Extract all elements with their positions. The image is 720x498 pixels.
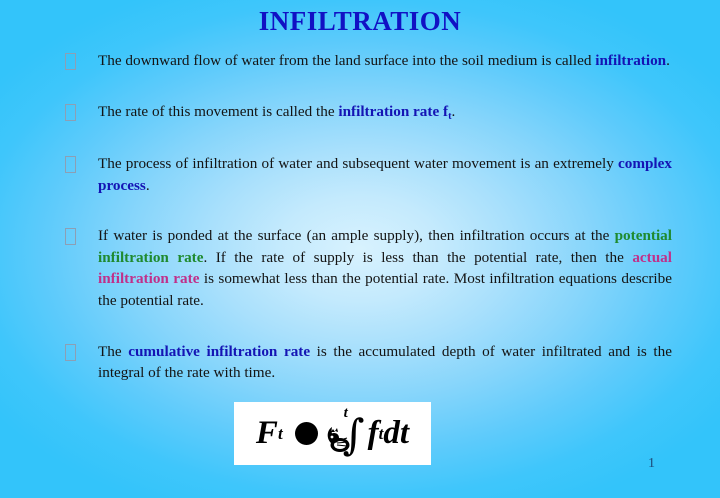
text-segment: The process of infiltration of water and…	[98, 155, 618, 172]
list-item: The process of infiltration of water and…	[0, 153, 720, 196]
equation-formula: Ft t ∫	[256, 406, 409, 462]
text-segment: The rate of this movement is called the	[98, 103, 338, 120]
emphasis-infiltration: infiltration	[595, 52, 666, 69]
list-item: The rate of this movement is called the …	[0, 101, 720, 125]
bullet-text-4: If water is ponded at the surface (an am…	[98, 227, 672, 309]
squirrel-glyph-icon	[325, 425, 351, 453]
bullet-box-icon	[65, 156, 76, 173]
text-segment: .	[146, 177, 150, 194]
bullet-box-icon	[65, 104, 76, 121]
text-segment: If water is ponded at the surface (an am…	[98, 227, 615, 244]
bullet-box-icon	[65, 344, 76, 361]
bullet-list: The downward flow of water from the land…	[0, 50, 720, 397]
filled-circle-icon	[295, 422, 318, 445]
list-item: The downward flow of water from the land…	[0, 50, 720, 72]
bullet-box-icon	[65, 53, 76, 70]
bullet-text-2: The rate of this movement is called the …	[98, 103, 455, 120]
equation-differential: dt	[383, 417, 409, 450]
emphasis-infiltration-rate: infiltration rate f	[338, 103, 448, 120]
page-number: 1	[648, 456, 655, 472]
equation-integrand-variable: f	[368, 417, 379, 450]
bullet-box-icon	[65, 228, 76, 245]
equation-lhs-variable: F	[256, 417, 278, 450]
bullet-text-5: The cumulative infiltration rate is the …	[98, 343, 672, 382]
integral-group: t ∫	[327, 406, 367, 462]
emphasis-cumulative-infiltration-rate: cumulative infiltration rate	[128, 343, 310, 360]
page-title: INFILTRATION	[0, 6, 720, 37]
text-segment: The downward flow of water from the land…	[98, 52, 595, 69]
bullet-text-3: The process of infiltration of water and…	[98, 155, 672, 194]
text-segment: .	[452, 103, 456, 120]
slide-canvas: INFILTRATION The downward flow of water …	[0, 0, 720, 498]
list-item: If water is ponded at the surface (an am…	[0, 225, 720, 311]
list-item: The cumulative infiltration rate is the …	[0, 341, 720, 384]
text-segment: The	[98, 343, 128, 360]
text-segment: .	[666, 52, 670, 69]
equation-image-box: Ft t ∫	[234, 402, 431, 465]
text-segment: . If the rate of supply is less than the…	[203, 249, 632, 266]
bullet-text-1: The downward flow of water from the land…	[98, 52, 670, 69]
equation-lhs-subscript: t	[278, 424, 283, 444]
